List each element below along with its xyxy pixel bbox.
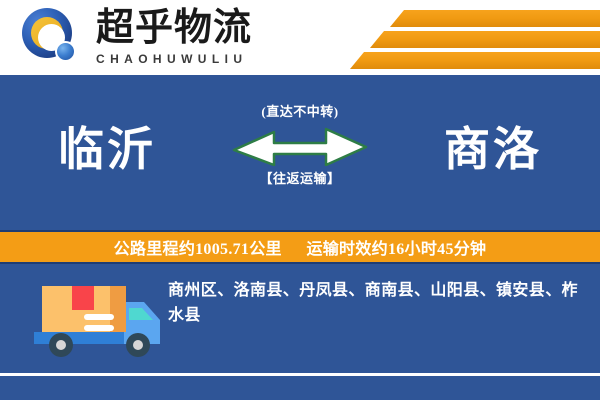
logistics-route-banner: 超乎物流 CHAOHUWULIU 临沂 (直达不中转) 【往返运输】 商洛 公路… [0,0,600,400]
origin-city: 临沂 [58,121,156,179]
stripe-1 [390,10,600,27]
company-logo-circle-q-icon [22,8,82,66]
coverage-panel: 商州区、洛南县、丹凤县、商南县、山阳县、镇安县、柞水县 [0,264,600,373]
distance-text: 公路里程约1005.71公里 [114,241,282,258]
decorative-stripes [330,0,600,75]
direct-service-note: (直达不中转) [232,103,368,121]
route-info-bar: 公路里程约1005.71公里 运输时效约16小时45分钟 [0,230,600,264]
footer-band [0,376,600,400]
logo-accent-dot [55,41,76,62]
brand-block: 超乎物流 CHAOHUWULIU [96,6,276,67]
brand-name-cn: 超乎物流 [96,6,276,50]
route-info-text: 公路里程约1005.71公里 运输时效约16小时45分钟 [114,235,487,259]
double-headed-arrow-icon [232,124,368,166]
delivery-truck-icon [28,274,170,360]
coverage-areas-text: 商州区、洛南县、丹凤县、商南县、山阳县、镇安县、柞水县 [168,278,586,328]
stripe-2 [370,31,600,48]
route-middle-block: (直达不中转) 【往返运输】 [232,103,368,207]
stripe-3 [350,52,600,69]
destination-city: 商洛 [444,121,542,179]
brand-name-pinyin: CHAOHUWULIU [96,51,276,67]
round-trip-note: 【往返运输】 [232,170,368,188]
route-panel: 临沂 (直达不中转) 【往返运输】 商洛 [0,75,600,230]
banner-header: 超乎物流 CHAOHUWULIU [0,0,600,75]
duration-text: 运输时效约16小时45分钟 [306,241,486,258]
